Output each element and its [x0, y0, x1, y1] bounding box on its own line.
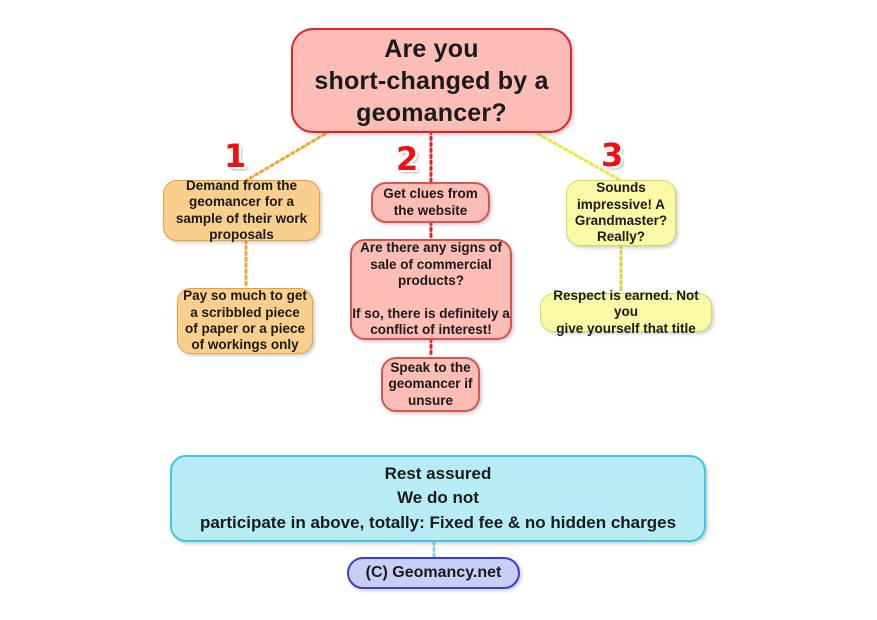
assurance-box: Rest assured We do not participate in ab…: [170, 455, 706, 542]
footer-copyright-pill[interactable]: (C) Geomancy.net: [347, 557, 520, 589]
branch1-node-demand-sample: Demand from the geomancer for a sample o…: [163, 180, 320, 241]
branch2-node-get-clues: Get clues from the website: [371, 182, 490, 223]
branch3-node-respect-is-earned: Respect is earned. Not you give yourself…: [540, 293, 712, 332]
step-number-1: 1: [224, 140, 246, 172]
branch2-node-speak-to-geomancer: Speak to the geomancer if unsure: [381, 357, 480, 412]
step-number-2: 2: [396, 143, 418, 175]
title-box: Are you short-changed by a geomancer?: [291, 28, 572, 133]
step-number-3: 3: [601, 139, 623, 171]
branch2-node-signs-of-sale: Are there any signs of sale of commercia…: [350, 239, 512, 340]
branch1-node-pay-scribbled-paper: Pay so much to get a scribbled piece of …: [177, 288, 313, 354]
diagram-canvas: Are you short-changed by a geomancer? 1 …: [0, 0, 877, 620]
branch3-node-sounds-impressive: Sounds impressive! A Grandmaster? Really…: [566, 180, 676, 246]
connector-title-to-branch1: [247, 131, 330, 180]
